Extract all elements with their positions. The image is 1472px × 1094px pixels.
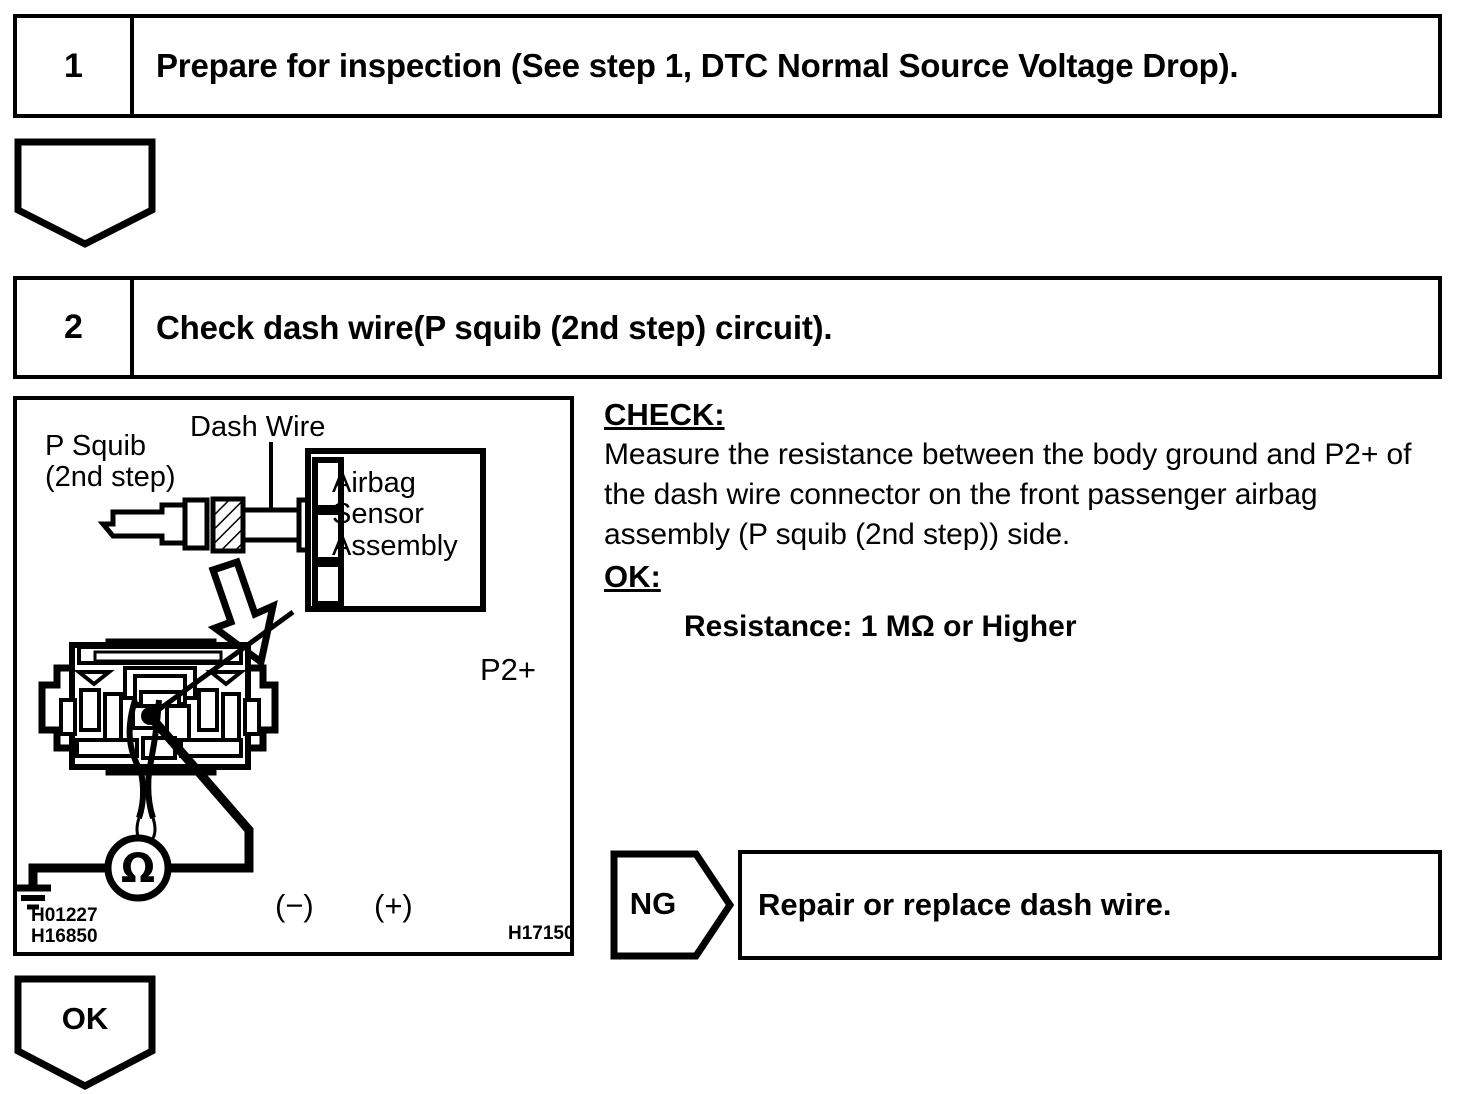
step-2-title: Check dash wire(P squib (2nd step) circu… [138, 280, 1438, 375]
label-p2-terminal: P2+ [480, 653, 536, 686]
ok-label: OK: [604, 558, 1454, 597]
label-probe-positive: (+) [374, 889, 413, 922]
step-1-title: Prepare for inspection (See step 1, DTC … [138, 18, 1438, 114]
check-label: CHECK: [604, 396, 1454, 435]
check-description: Measure the resistance between the body … [604, 435, 1450, 555]
illustration-code-left: H01227 H16850 [31, 905, 98, 948]
flow-arrow-ng-label: NG [610, 886, 696, 922]
illustration-code-right: H17150 [508, 923, 575, 944]
p-squib-connector-graphic [103, 500, 207, 548]
flow-arrow-ok-label: OK [14, 1001, 156, 1037]
step-1-box: 1 Prepare for inspection (See step 1, DT… [13, 14, 1442, 118]
svg-text:Ω: Ω [121, 846, 155, 892]
flow-arrow-after-step-1-shape [14, 138, 156, 248]
illustration-panel: Ω P Squib (2nd step) Dash Wire Airbag Se… [13, 396, 574, 956]
label-probe-negative: (−) [275, 889, 314, 922]
label-airbag-sensor-assembly: Airbag Sensor Assembly [332, 468, 458, 562]
step-1-number: 1 [17, 18, 134, 114]
ng-result-box: Repair or replace dash wire. [738, 850, 1442, 960]
step-2-box: 2 Check dash wire(P squib (2nd step) cir… [13, 276, 1442, 379]
check-text-column: CHECK: Measure the resistance between th… [604, 396, 1454, 646]
dash-wire-hatch-block [213, 499, 243, 551]
label-dash-wire: Dash Wire [190, 412, 325, 443]
inspection-flowchart-page: 1 Prepare for inspection (See step 1, DT… [0, 0, 1472, 1094]
ohmmeter-symbol: Ω [108, 838, 168, 898]
dash-wire-body [243, 510, 299, 540]
ng-result-text: Repair or replace dash wire. [758, 887, 1172, 923]
ok-specification: Resistance: 1 MΩ or Higher [604, 607, 1454, 646]
flow-arrow-ng: NG [610, 850, 734, 960]
step-2-number: 2 [17, 280, 134, 375]
flow-arrow-ok: OK [14, 975, 156, 1090]
label-p-squib: P Squib (2nd step) [45, 431, 176, 494]
flow-arrow-after-step-1 [14, 138, 156, 248]
